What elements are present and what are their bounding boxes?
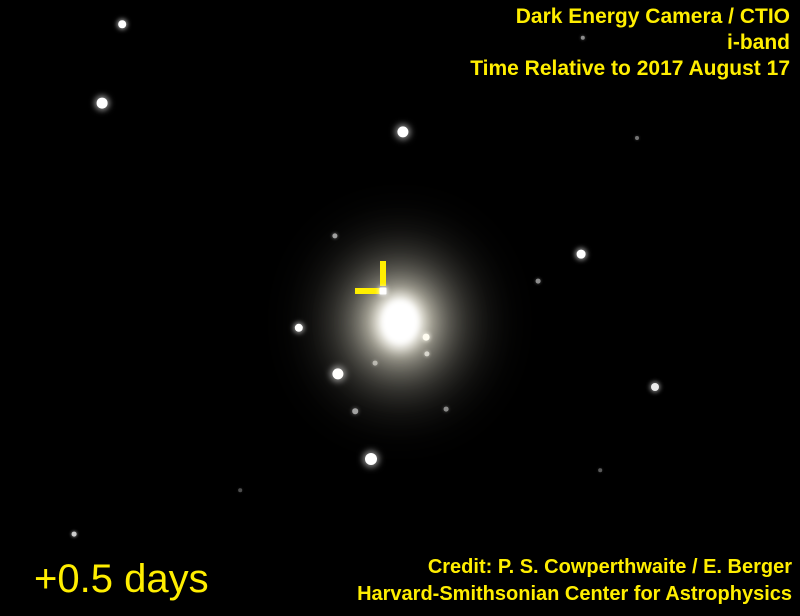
credit-line-institution: Harvard-Smithsonian Center for Astrophys… [357, 581, 792, 608]
field-star [72, 532, 77, 537]
field-star [118, 20, 126, 28]
credit-annotation: Credit: P. S. Cowperthwaite / E. Berger … [357, 554, 792, 608]
header-line-epoch-reference: Time Relative to 2017 August 17 [470, 56, 790, 82]
field-star [332, 368, 343, 379]
field-star [332, 233, 337, 238]
field-star [365, 453, 377, 465]
header-line-instrument: Dark Energy Camera / CTIO [470, 4, 790, 30]
field-star [536, 279, 541, 284]
field-star [373, 361, 378, 366]
field-star [352, 408, 358, 414]
field-star [423, 334, 430, 341]
field-star [97, 98, 108, 109]
crosshair-vertical-tick [380, 261, 386, 286]
field-star [397, 126, 408, 137]
field-star [424, 351, 429, 356]
crosshair-horizontal-tick [355, 288, 380, 294]
field-star [635, 136, 639, 140]
credit-line-authors: Credit: P. S. Cowperthwaite / E. Berger [357, 554, 792, 581]
header-annotation: Dark Energy Camera / CTIO i-band Time Re… [470, 4, 790, 82]
field-star [598, 468, 602, 472]
epoch-label: +0.5 days [34, 557, 209, 602]
header-line-filter: i-band [470, 30, 790, 56]
field-star [651, 383, 659, 391]
kilonova-point-source [380, 288, 387, 295]
sky-image-canvas: Dark Energy Camera / CTIO i-band Time Re… [0, 0, 800, 616]
field-star [238, 488, 242, 492]
field-star [577, 250, 586, 259]
field-star [444, 407, 449, 412]
field-star [295, 324, 303, 332]
star-field [0, 0, 800, 616]
